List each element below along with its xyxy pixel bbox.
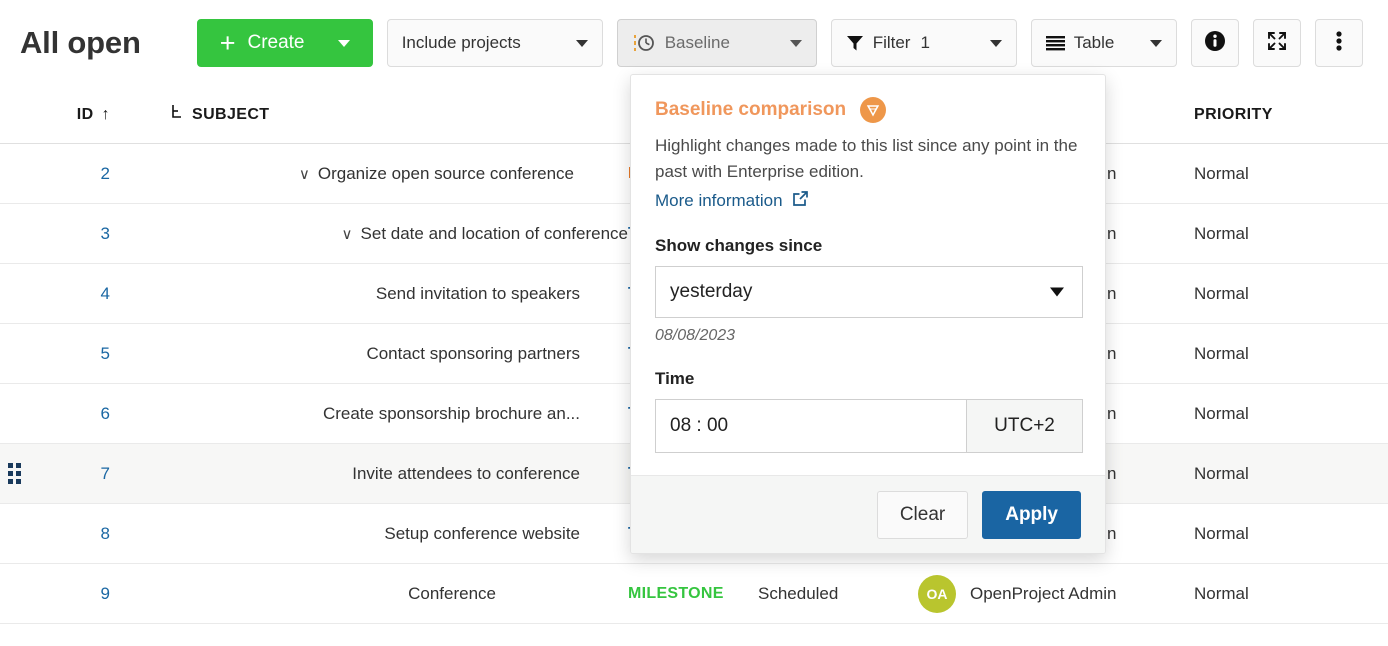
- time-input[interactable]: 08 : 00: [655, 399, 967, 453]
- cell-id[interactable]: 6: [28, 404, 158, 424]
- show-changes-since-value: yesterday: [670, 281, 752, 303]
- baseline-button[interactable]: Baseline: [617, 19, 817, 67]
- create-button-label: Create: [247, 32, 304, 54]
- cell-priority[interactable]: Normal: [1188, 284, 1388, 304]
- cell-subject[interactable]: ∨Organize open source conference: [158, 164, 628, 184]
- cell-subject[interactable]: Create sponsorship brochure an...: [158, 404, 628, 424]
- baseline-panel-description: Highlight changes made to this list sinc…: [655, 133, 1081, 184]
- baseline-panel-title: Baseline comparison: [655, 99, 846, 121]
- cell-subject-label: Set date and location of conference: [361, 224, 628, 244]
- chevron-down-icon[interactable]: ∨: [299, 165, 310, 183]
- include-projects-button[interactable]: Include projects: [387, 19, 603, 67]
- cell-subject-label: Invite attendees to conference: [158, 464, 592, 484]
- column-header-priority-label: PRIORITY: [1194, 106, 1273, 123]
- chevron-down-icon: [1150, 40, 1162, 47]
- show-changes-since-label: Show changes since: [655, 236, 1081, 256]
- baseline-button-label: Baseline: [665, 33, 730, 53]
- cell-id[interactable]: 7: [28, 464, 158, 484]
- more-options-button[interactable]: [1315, 19, 1363, 67]
- cell-priority[interactable]: Normal: [1188, 584, 1388, 604]
- chevron-down-icon[interactable]: ∨: [342, 225, 353, 243]
- list-lines-icon: [1046, 35, 1065, 52]
- cell-type[interactable]: MILESTONE: [628, 585, 758, 603]
- cell-priority[interactable]: Normal: [1188, 524, 1388, 544]
- time-row: 08 : 00 UTC+2: [655, 399, 1083, 453]
- clear-button[interactable]: Clear: [877, 491, 968, 539]
- cell-id[interactable]: 8: [28, 524, 158, 544]
- baseline-clock-icon: [632, 32, 656, 54]
- cell-id[interactable]: 5: [28, 344, 158, 364]
- external-link-icon: [792, 190, 809, 212]
- cell-priority[interactable]: Normal: [1188, 224, 1388, 244]
- cell-id[interactable]: 4: [28, 284, 158, 304]
- cell-priority[interactable]: Normal: [1188, 464, 1388, 484]
- time-label: Time: [655, 369, 1081, 389]
- hierarchy-icon: [170, 104, 184, 125]
- cell-subject[interactable]: Send invitation to speakers: [158, 284, 628, 304]
- cell-assignee-label: OpenProject Admin: [970, 584, 1116, 604]
- page-title: All open: [20, 25, 141, 61]
- cell-status[interactable]: Scheduled: [758, 584, 918, 604]
- plus-icon: +: [220, 30, 236, 57]
- time-input-value: 08 : 00: [670, 415, 728, 437]
- create-button[interactable]: + Create: [197, 19, 373, 67]
- cell-id[interactable]: 9: [28, 584, 158, 604]
- cell-id[interactable]: 3: [28, 224, 158, 244]
- filter-button-label: Filter: [873, 33, 911, 53]
- info-button[interactable]: [1191, 19, 1239, 67]
- filter-button[interactable]: Filter 1: [831, 19, 1017, 67]
- avatar: OA: [918, 575, 956, 613]
- column-header-subject[interactable]: SUBJECT: [158, 104, 628, 125]
- baseline-panel-body: Baseline comparison Highlight changes ma…: [631, 75, 1105, 475]
- cell-subject-label: Send invitation to speakers: [158, 284, 592, 304]
- cell-subject[interactable]: Contact sponsoring partners: [158, 344, 628, 364]
- cell-priority[interactable]: Normal: [1188, 404, 1388, 424]
- diamond-icon: [860, 97, 886, 123]
- cell-assignee[interactable]: OAOpenProject Admin: [918, 575, 1188, 613]
- chevron-down-icon: [338, 40, 350, 47]
- chevron-down-icon: [790, 40, 802, 47]
- baseline-dropdown-panel: Baseline comparison Highlight changes ma…: [630, 74, 1106, 554]
- show-changes-since-select[interactable]: yesterday: [655, 266, 1083, 318]
- filter-count-badge: 1: [920, 33, 929, 53]
- funnel-icon: [846, 34, 864, 52]
- work-packages-page: All open + Create Include projects B: [0, 0, 1388, 646]
- chevron-down-icon: [1050, 288, 1064, 297]
- include-projects-label: Include projects: [402, 33, 521, 53]
- sort-ascending-icon: ↑: [102, 106, 110, 124]
- table-view-button[interactable]: Table: [1031, 19, 1177, 67]
- cell-subject-label: Setup conference website: [158, 524, 592, 544]
- info-icon: [1203, 29, 1227, 58]
- drag-handle-icon[interactable]: [0, 463, 28, 484]
- baseline-panel-title-row: Baseline comparison: [655, 97, 1081, 123]
- cell-id[interactable]: 2: [28, 164, 158, 184]
- more-information-link[interactable]: More information: [655, 190, 809, 212]
- column-header-priority[interactable]: PRIORITY: [1188, 106, 1388, 124]
- column-header-id-label: ID: [77, 106, 94, 124]
- more-information-label: More information: [655, 191, 783, 211]
- cell-subject[interactable]: Conference: [158, 584, 628, 604]
- baseline-panel-footer: Clear Apply: [631, 475, 1105, 553]
- chevron-down-icon: [990, 40, 1002, 47]
- column-header-subject-label: SUBJECT: [192, 106, 269, 124]
- chevron-down-icon: [576, 40, 588, 47]
- cell-subject-label: Create sponsorship brochure an...: [158, 404, 592, 424]
- cell-subject[interactable]: ∨Set date and location of conference: [158, 224, 628, 244]
- cell-subject-label: Organize open source conference: [318, 164, 574, 184]
- cell-subject[interactable]: Invite attendees to conference: [158, 464, 628, 484]
- more-vertical-icon: [1336, 30, 1342, 57]
- fullscreen-button[interactable]: [1253, 19, 1301, 67]
- cell-subject-label: Contact sponsoring partners: [158, 344, 592, 364]
- column-header-id[interactable]: ID ↑: [28, 106, 158, 124]
- timezone-display: UTC+2: [967, 399, 1083, 453]
- apply-button[interactable]: Apply: [982, 491, 1081, 539]
- baseline-date-hint: 08/08/2023: [655, 327, 1081, 345]
- cell-subject[interactable]: Setup conference website: [158, 524, 628, 544]
- fullscreen-icon: [1266, 30, 1288, 57]
- cell-subject-label: Conference: [158, 584, 508, 604]
- cell-priority[interactable]: Normal: [1188, 164, 1388, 184]
- table-row[interactable]: 9ConferenceMILESTONEScheduledOAOpenProje…: [0, 564, 1388, 624]
- timezone-value: UTC+2: [994, 415, 1055, 437]
- table-view-label: Table: [1074, 33, 1115, 53]
- cell-priority[interactable]: Normal: [1188, 344, 1388, 364]
